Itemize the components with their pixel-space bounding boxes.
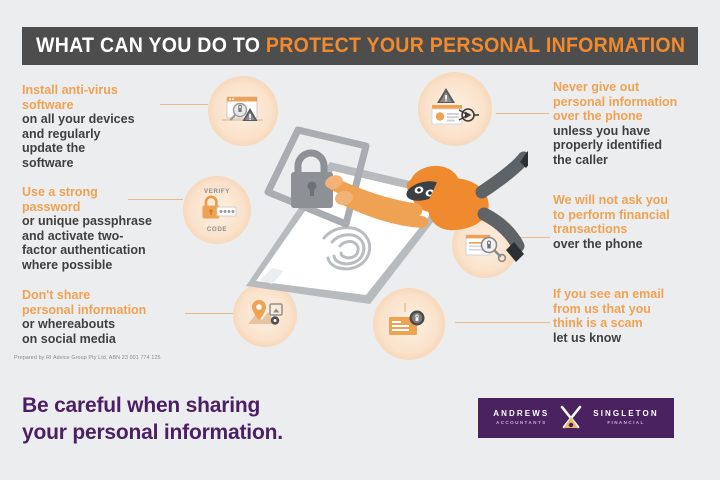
tip-no-financial-lead-1: We will not ask you [553,193,718,208]
tip-password-lead-2: password [22,200,194,215]
tip-antivirus-body-3: update the [22,141,194,156]
tip-antivirus-body-1: on all your devices [22,112,194,127]
tip-password-lead-1: Use a strong [22,185,194,200]
logo-andrews: ANDREWS ACCOUNTANTS [493,410,549,425]
tip-scam-email-body-1: let us know [553,331,718,346]
tip-never-give-out-lead-3: over the phone [553,109,718,124]
crossed-arrows-emblem [558,405,584,431]
logo-singleton: SINGLETON FINANCIAL [593,410,658,425]
tip-scam-email: If you see an email from us that you thi… [553,287,718,345]
tip-scam-email-lead-3: think is a scam [553,316,718,331]
padlock-verify-code-icon: VERIFY CODE [189,184,245,236]
tip-password-body-2: and activate two- [22,229,194,244]
footer-tagline-line-1: Be careful when sharing [22,393,352,420]
disclaimer-text: Prepared by RI Advice Group Pty Ltd, ABN… [14,355,161,361]
svg-text:CODE: CODE [207,226,227,233]
tip-antivirus-body-4: software [22,156,194,171]
tip-no-financial-lead-3: transactions [553,222,718,237]
footer-tagline-line-2: your personal information. [22,420,352,447]
page-title: WHAT CAN YOU DO TO PROTECT YOUR PERSONAL… [36,34,685,58]
tip-dont-share-lead-2: personal information [22,303,202,318]
tip-never-give-out-body-2: properly identified [553,138,718,153]
infographic-canvas: WHAT CAN YOU DO TO PROTECT YOUR PERSONAL… [0,0,720,480]
tip-dont-share: Don't share personal information or wher… [22,288,202,346]
tip-never-give-out-lead-2: personal information [553,95,718,110]
tip-antivirus: Install anti-virus software on all your … [22,83,194,170]
page-title-orange: PROTECT YOUR PERSONAL INFORMATION [266,34,685,57]
logo-singleton-main: SINGLETON [593,410,658,418]
logo-singleton-sub: FINANCIAL [607,421,644,426]
tip-password-body-4: where possible [22,258,194,273]
tip-antivirus-body-2: and regularly [22,127,194,142]
tip-dont-share-lead-1: Don't share [22,288,202,303]
tip-password-body-1: or unique passphrase [22,214,194,229]
footer-tagline: Be careful when sharing your personal in… [22,393,352,447]
tip-password-body-3: factor authentication [22,243,194,258]
tip-no-financial-transactions: We will not ask you to perform financial… [553,193,718,251]
tip-no-financial-lead-2: to perform financial [553,208,718,223]
brand-logo: ANDREWS ACCOUNTANTS SINGLETON FINANCIAL [478,398,674,438]
logo-andrews-main: ANDREWS [493,410,549,418]
tip-never-give-out-lead-1: Never give out [553,80,718,95]
logo-andrews-sub: ACCOUNTANTS [496,421,547,426]
central-illustration [238,118,528,308]
tip-never-give-out-body-1: unless you have [553,124,718,139]
tip-no-financial-body-1: over the phone [553,237,718,252]
page-title-white: WHAT CAN YOU DO TO [36,34,260,57]
header-bar: WHAT CAN YOU DO TO PROTECT YOUR PERSONAL… [22,27,698,65]
tip-never-give-out: Never give out personal information over… [553,80,718,167]
connector-email [455,322,550,323]
svg-text:VERIFY: VERIFY [204,188,230,195]
tip-antivirus-lead-2: software [22,98,194,113]
tip-never-give-out-body-3: the caller [553,153,718,168]
tip-scam-email-lead-2: from us that you [553,302,718,317]
tip-password: Use a strong password or unique passphra… [22,185,194,272]
tip-antivirus-lead-1: Install anti-virus [22,83,194,98]
connector-nevergive [496,113,549,114]
tip-scam-email-lead-1: If you see an email [553,287,718,302]
tip-dont-share-body-1: or whereabouts [22,317,202,332]
tip-dont-share-body-2: on social media [22,332,202,347]
